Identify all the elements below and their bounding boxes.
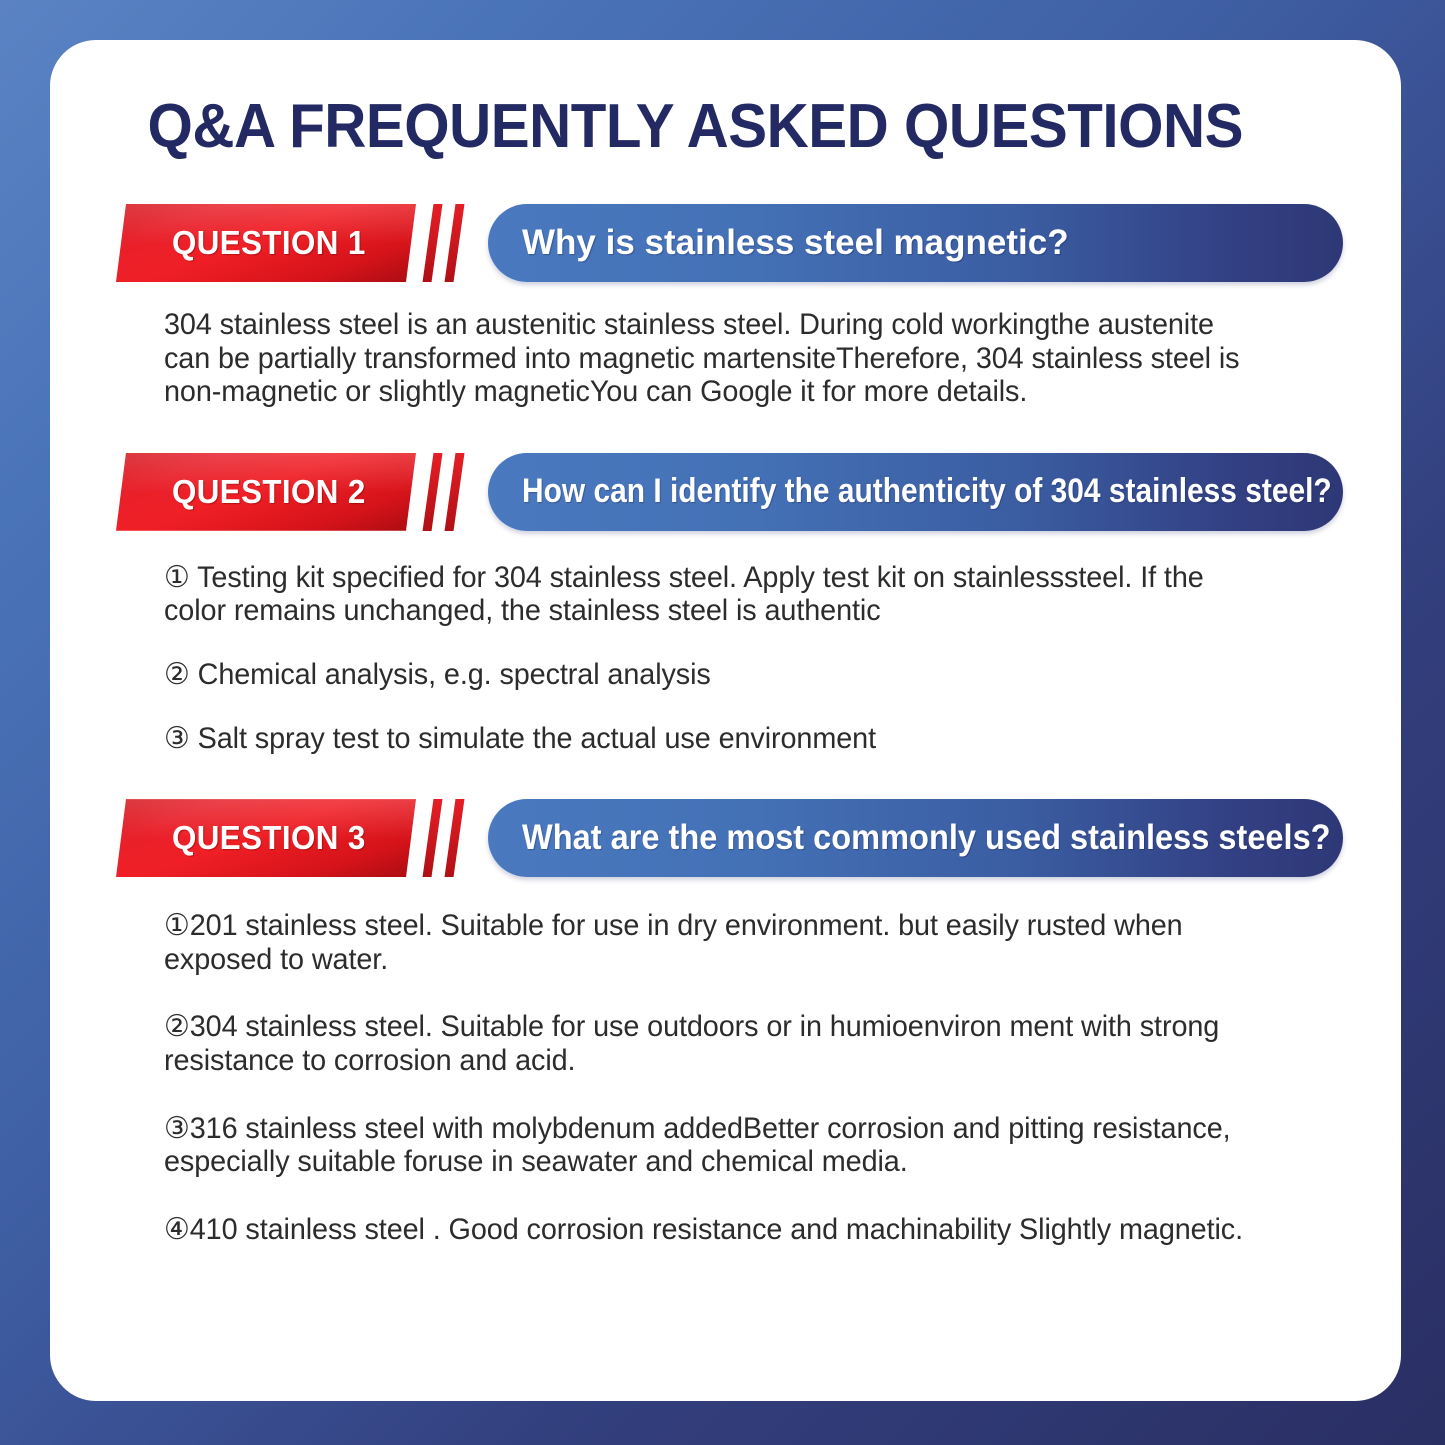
faq-header-1: QUESTION 1 Why is stainless steel magnet… <box>108 204 1343 282</box>
question-pill-3[interactable]: What are the most commonly used stainles… <box>488 799 1343 877</box>
question-badge-3: QUESTION 3 <box>116 799 416 877</box>
question-text-3: What are the most commonly used stainles… <box>522 818 1331 858</box>
faq-item-2: QUESTION 2 How can I identify the authen… <box>108 453 1343 755</box>
faq-answer-3: ①201 stainless steel. Suitable for use i… <box>108 877 1343 1246</box>
question-pill-1[interactable]: Why is stainless steel magnetic? <box>488 204 1343 282</box>
answer-paragraph: ③316 stainless steel with molybdenum add… <box>164 1112 1257 1179</box>
answer-paragraph: ④410 stainless steel . Good corrosion re… <box>164 1213 1257 1247</box>
double-slash-icon-3 <box>420 799 474 877</box>
answer-paragraph: ①201 stainless steel. Suitable for use i… <box>164 909 1257 976</box>
answer-paragraph: ② Chemical analysis, e.g. spectral analy… <box>164 658 1257 692</box>
page-title: Q&A FREQUENTLY ASKED QUESTIONS <box>108 96 1269 158</box>
faq-answer-2: ① Testing kit specified for 304 stainles… <box>108 531 1343 755</box>
double-slash-icon-1 <box>420 204 474 282</box>
faq-answer-1: 304 stainless steel is an austenitic sta… <box>108 282 1343 409</box>
question-badge-1: QUESTION 1 <box>116 204 416 282</box>
question-badge-label-1: QUESTION 1 <box>124 224 409 262</box>
faq-header-2: QUESTION 2 How can I identify the authen… <box>108 453 1343 531</box>
faq-card: Q&A FREQUENTLY ASKED QUESTIONS QUESTION … <box>50 40 1401 1401</box>
question-badge-2: QUESTION 2 <box>116 453 416 531</box>
answer-paragraph: 304 stainless steel is an austenitic sta… <box>164 308 1257 409</box>
answer-paragraph: ③ Salt spray test to simulate the actual… <box>164 722 1257 756</box>
question-text-2: How can I identify the authenticity of 3… <box>522 472 1332 511</box>
faq-header-3: QUESTION 3 What are the most commonly us… <box>108 799 1343 877</box>
faq-item-1: QUESTION 1 Why is stainless steel magnet… <box>108 204 1343 409</box>
page-background: Q&A FREQUENTLY ASKED QUESTIONS QUESTION … <box>0 0 1445 1445</box>
faq-item-3: QUESTION 3 What are the most commonly us… <box>108 799 1343 1246</box>
question-badge-label-2: QUESTION 2 <box>124 473 409 511</box>
question-text-1: Why is stainless steel magnetic? <box>522 223 1069 263</box>
double-slash-icon-2 <box>420 453 474 531</box>
question-badge-label-3: QUESTION 3 <box>124 819 409 857</box>
answer-paragraph: ① Testing kit specified for 304 stainles… <box>164 561 1257 628</box>
answer-paragraph: ②304 stainless steel. Suitable for use o… <box>164 1010 1257 1077</box>
question-pill-2[interactable]: How can I identify the authenticity of 3… <box>488 453 1343 531</box>
